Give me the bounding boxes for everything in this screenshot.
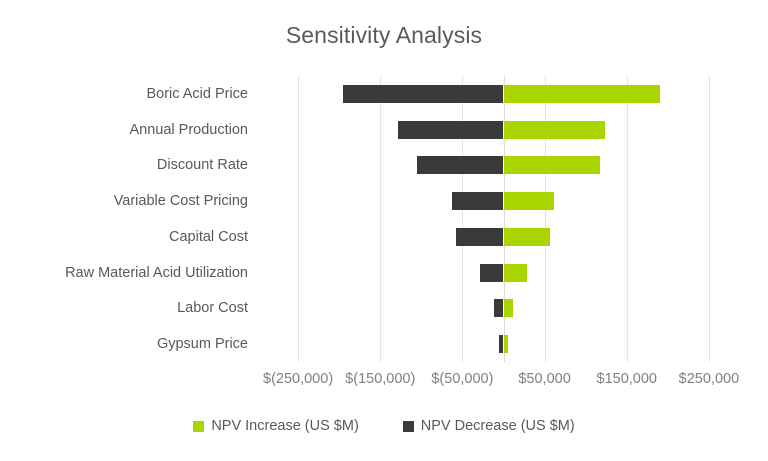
- sensitivity-analysis-chart: Sensitivity Analysis Boric Acid PriceAnn…: [0, 0, 768, 461]
- bar-npv-decrease: [452, 192, 504, 210]
- legend-item[interactable]: NPV Increase (US $M): [193, 418, 358, 434]
- gridline: [627, 76, 628, 362]
- plot-area: [257, 76, 750, 362]
- x-axis: $(250,000)$(150,000)$(50,000)$50,000$150…: [0, 371, 768, 395]
- category-label: Gypsum Price: [0, 336, 248, 352]
- gridline: [709, 76, 710, 362]
- bar-npv-decrease: [494, 299, 504, 317]
- chart-legend: NPV Increase (US $M)NPV Decrease (US $M): [0, 418, 768, 434]
- category-label: Annual Production: [0, 122, 248, 138]
- x-axis-tick-label: $(50,000): [431, 371, 493, 387]
- bar-npv-decrease: [343, 85, 503, 103]
- category-label: Raw Material Acid Utilization: [0, 265, 248, 281]
- bar-npv-increase: [504, 335, 509, 353]
- bar-npv-decrease: [456, 228, 504, 246]
- bar-npv-increase: [504, 299, 513, 317]
- gridline: [545, 76, 546, 362]
- legend-swatch-icon: [193, 421, 204, 432]
- chart-title: Sensitivity Analysis: [0, 22, 768, 49]
- bar-npv-decrease: [480, 264, 504, 282]
- bar-npv-decrease: [417, 156, 503, 174]
- bar-npv-decrease: [398, 121, 503, 139]
- bar-npv-increase: [504, 85, 661, 103]
- bar-npv-increase: [504, 121, 606, 139]
- x-axis-tick-label: $(150,000): [345, 371, 415, 387]
- category-label: Variable Cost Pricing: [0, 193, 248, 209]
- category-label: Labor Cost: [0, 300, 248, 316]
- x-axis-tick-label: $250,000: [679, 371, 739, 387]
- zero-axis-line: [504, 76, 505, 362]
- gridline: [380, 76, 381, 362]
- gridline: [462, 76, 463, 362]
- bar-npv-increase: [504, 264, 527, 282]
- bar-npv-increase: [504, 192, 554, 210]
- x-axis-tick-label: $150,000: [597, 371, 657, 387]
- legend-item[interactable]: NPV Decrease (US $M): [403, 418, 575, 434]
- legend-label: NPV Increase (US $M): [211, 418, 358, 434]
- legend-swatch-icon: [403, 421, 414, 432]
- legend-label: NPV Decrease (US $M): [421, 418, 575, 434]
- gridline: [298, 76, 299, 362]
- bar-npv-increase: [504, 156, 601, 174]
- x-axis-tick-label: $(250,000): [263, 371, 333, 387]
- x-axis-tick-label: $50,000: [518, 371, 570, 387]
- category-label: Capital Cost: [0, 229, 248, 245]
- category-label: Boric Acid Price: [0, 86, 248, 102]
- category-label: Discount Rate: [0, 157, 248, 173]
- bar-npv-increase: [504, 228, 551, 246]
- category-axis: Boric Acid PriceAnnual ProductionDiscoun…: [0, 76, 248, 362]
